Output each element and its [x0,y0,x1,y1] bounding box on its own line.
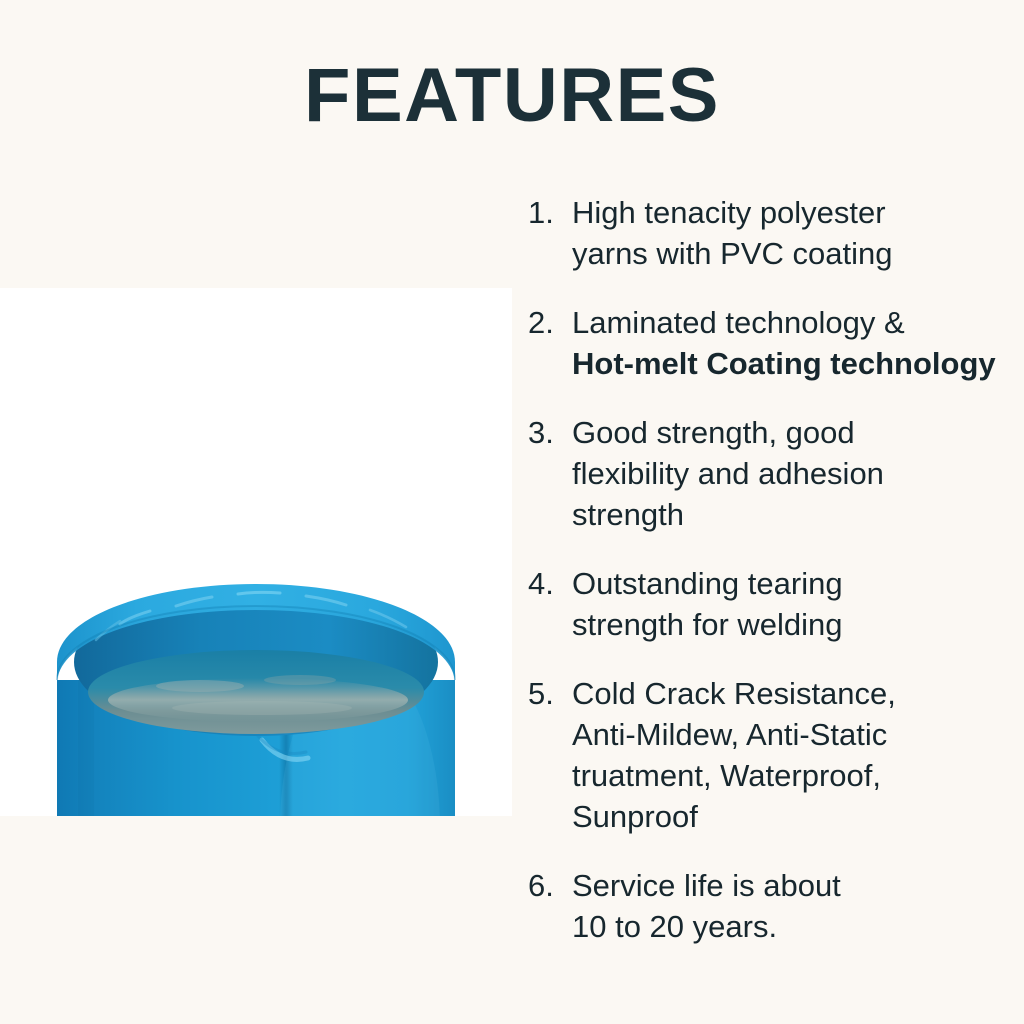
feature-item-2: 2. Laminated technology &Hot-melt Coatin… [528,302,1016,384]
feature-number: 3. [528,412,572,453]
feature-item-1: 1. High tenacity polyester yarns with PV… [528,192,1016,274]
feature-number: 6. [528,865,572,906]
product-illustration [0,288,512,816]
feature-number: 5. [528,673,572,714]
feature-number: 4. [528,563,572,604]
infographic-page: FEATURES [0,0,1024,1024]
feature-item-4: 4. Outstanding tearing strength for weld… [528,563,1016,645]
feature-item-6: 6. Service life is about 10 to 20 years. [528,865,1016,947]
feature-text: Service life is about 10 to 20 years. [572,865,1016,947]
feature-text: Laminated technology &Hot-melt Coating t… [572,302,1016,384]
feature-text: Cold Crack Resistance, Anti-Mildew, Anti… [572,673,1016,837]
feature-number: 1. [528,192,572,233]
feature-text-line-2: Hot-melt Coating technology [572,346,996,381]
product-image-card [0,288,512,816]
feature-text: High tenacity polyester yarns with PVC c… [572,192,1016,274]
feature-text: Outstanding tearing strength for welding [572,563,1016,645]
feature-text-line-1: Laminated technology & [572,305,905,340]
water-reflection [108,678,408,722]
page-title: FEATURES [0,58,1024,134]
page-title-text: FEATURES [304,58,720,134]
feature-item-3: 3. Good strength, good flexibility and a… [528,412,1016,535]
feature-text: Good strength, good flexibility and adhe… [572,412,1016,535]
feature-number: 2. [528,302,572,343]
feature-list: 1. High tenacity polyester yarns with PV… [528,192,1016,947]
feature-item-5: 5. Cold Crack Resistance, Anti-Mildew, A… [528,673,1016,837]
